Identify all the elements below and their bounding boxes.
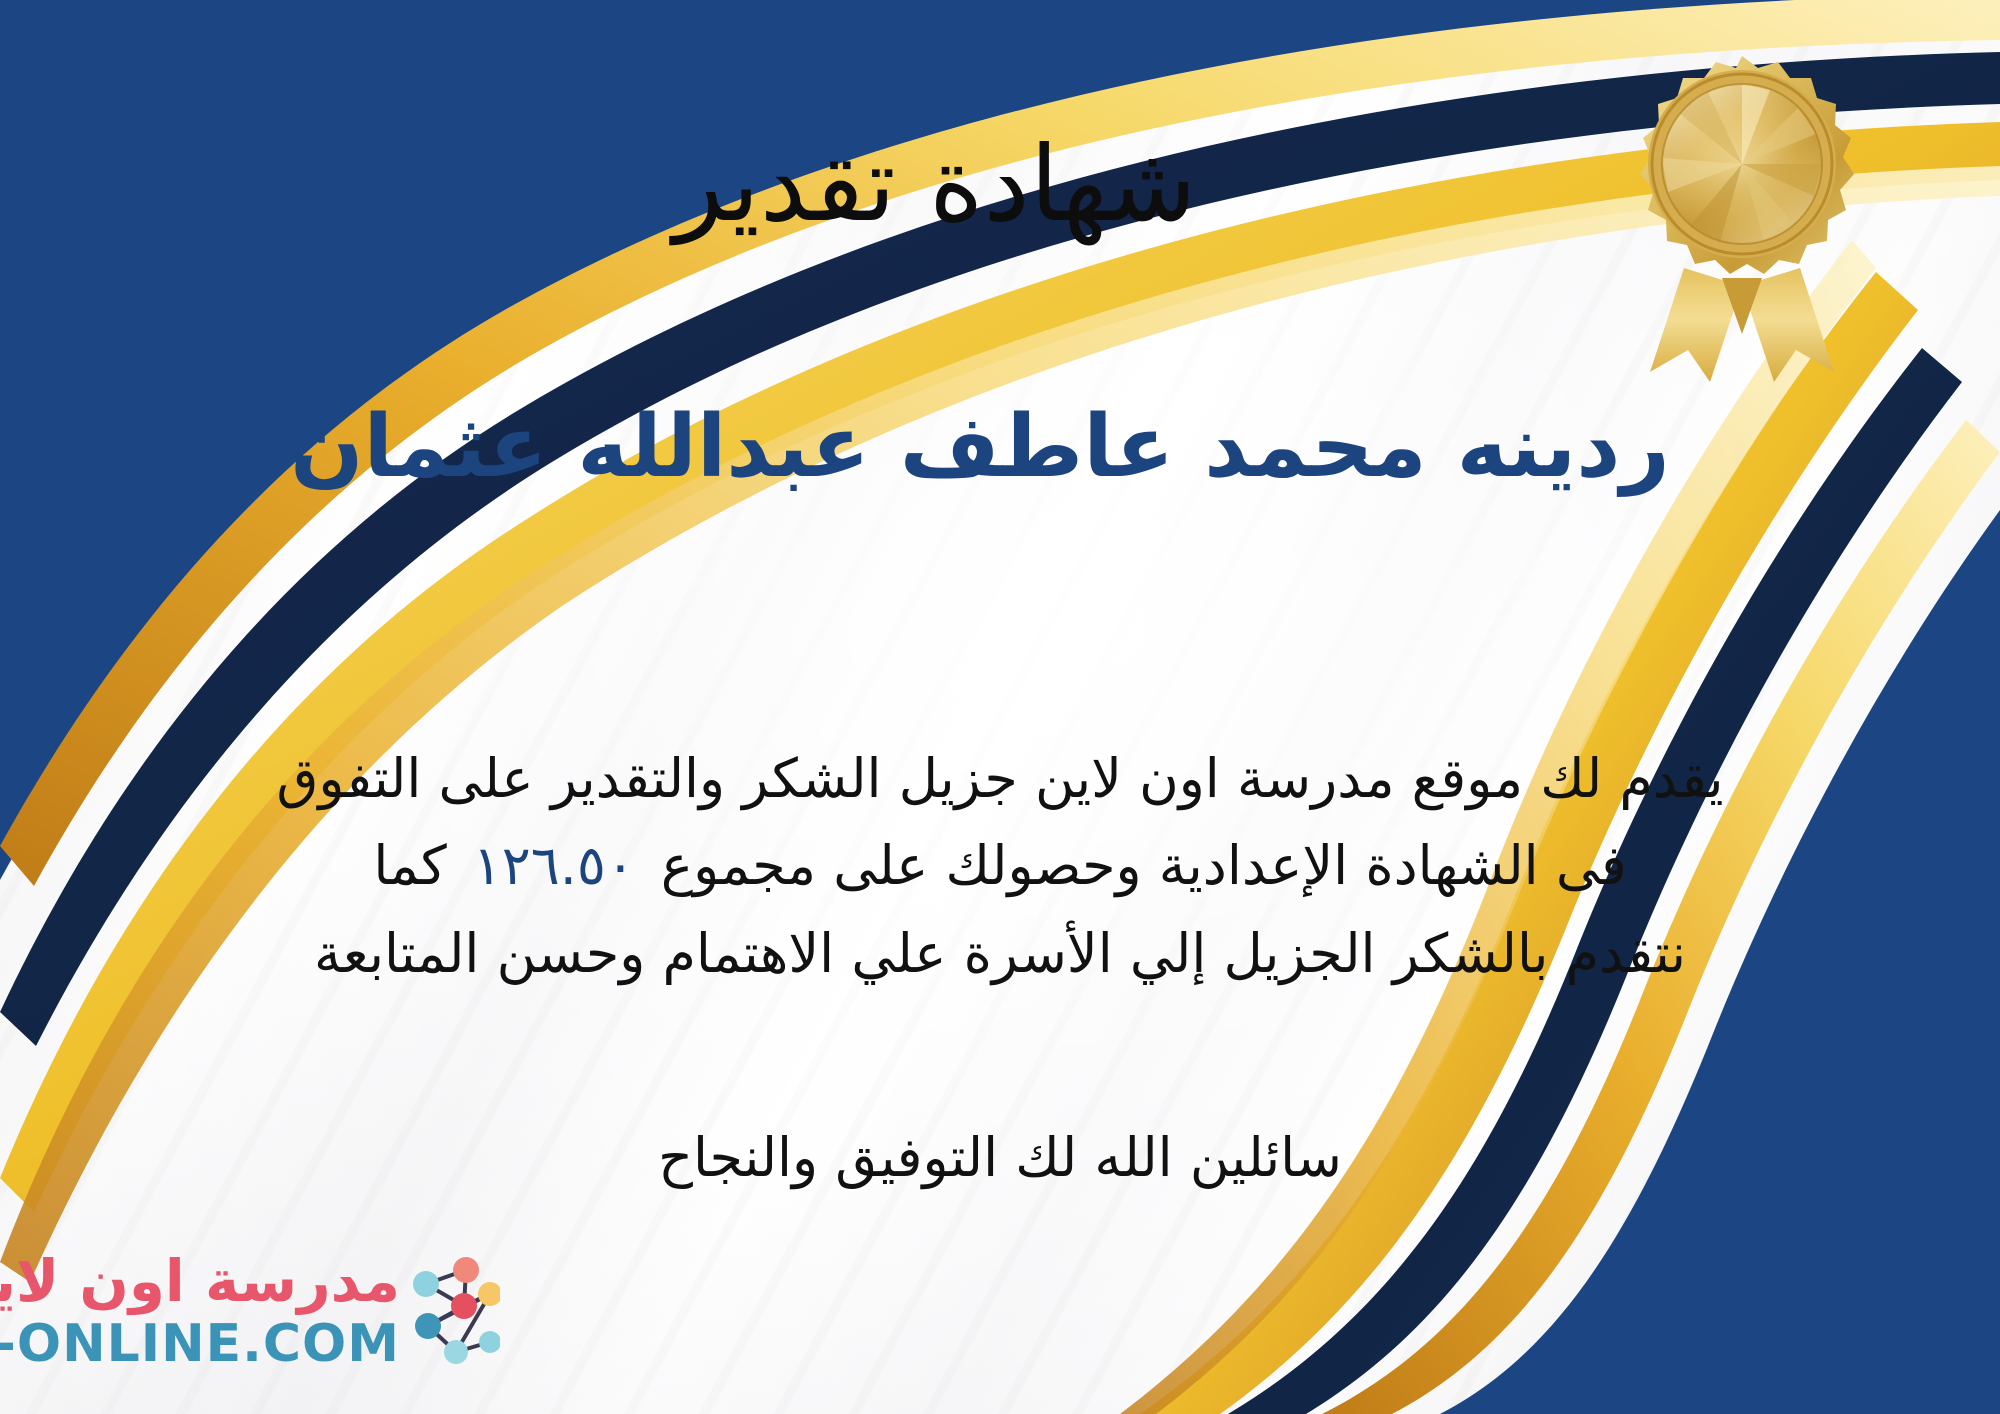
body-line-1: يقدم لك موقع مدرسة اون لاين جزيل الشكر و… [50,735,1950,822]
body-line-2-suffix: كما [373,834,446,897]
body-line-2: فى الشهادة الإعدادية وحصولك على مجموع١٢٦… [50,822,1950,909]
body-line-3: نتقدم بالشكر الجزيل إلي الأسرة علي الاهت… [50,910,1950,997]
brand-arabic-name: مدرسة اون لاين [0,1252,400,1310]
certificate-content: شهادة تقدير ردينه محمد عاطف عبدالله عثما… [0,0,2000,1414]
page-title: شهادة تقدير [0,128,2000,240]
closing-wish: سائلين الله لك التوفيق والنجاح [0,1120,2000,1196]
recipient-name: ردينه محمد عاطف عبدالله عثمان [0,398,2000,497]
score-value: ١٢٦.٥٠ [447,834,661,897]
certificate-page: شهادة تقدير ردينه محمد عاطف عبدالله عثما… [0,0,2000,1414]
brand-text: مدرسة اون لاين MADRSA-ONLINE.COM [0,1252,400,1370]
body-line-2-prefix: فى الشهادة الإعدادية وحصولك على مجموع [661,834,1627,897]
network-nodes-icon [404,1256,500,1366]
brand-logo[interactable]: مدرسة اون لاين MADRSA-ONLINE.COM [30,1252,500,1392]
brand-logo-row: مدرسة اون لاين MADRSA-ONLINE.COM [30,1252,500,1370]
brand-website-url: MADRSA-ONLINE.COM [0,1318,400,1370]
certificate-body: يقدم لك موقع مدرسة اون لاين جزيل الشكر و… [50,735,1950,997]
